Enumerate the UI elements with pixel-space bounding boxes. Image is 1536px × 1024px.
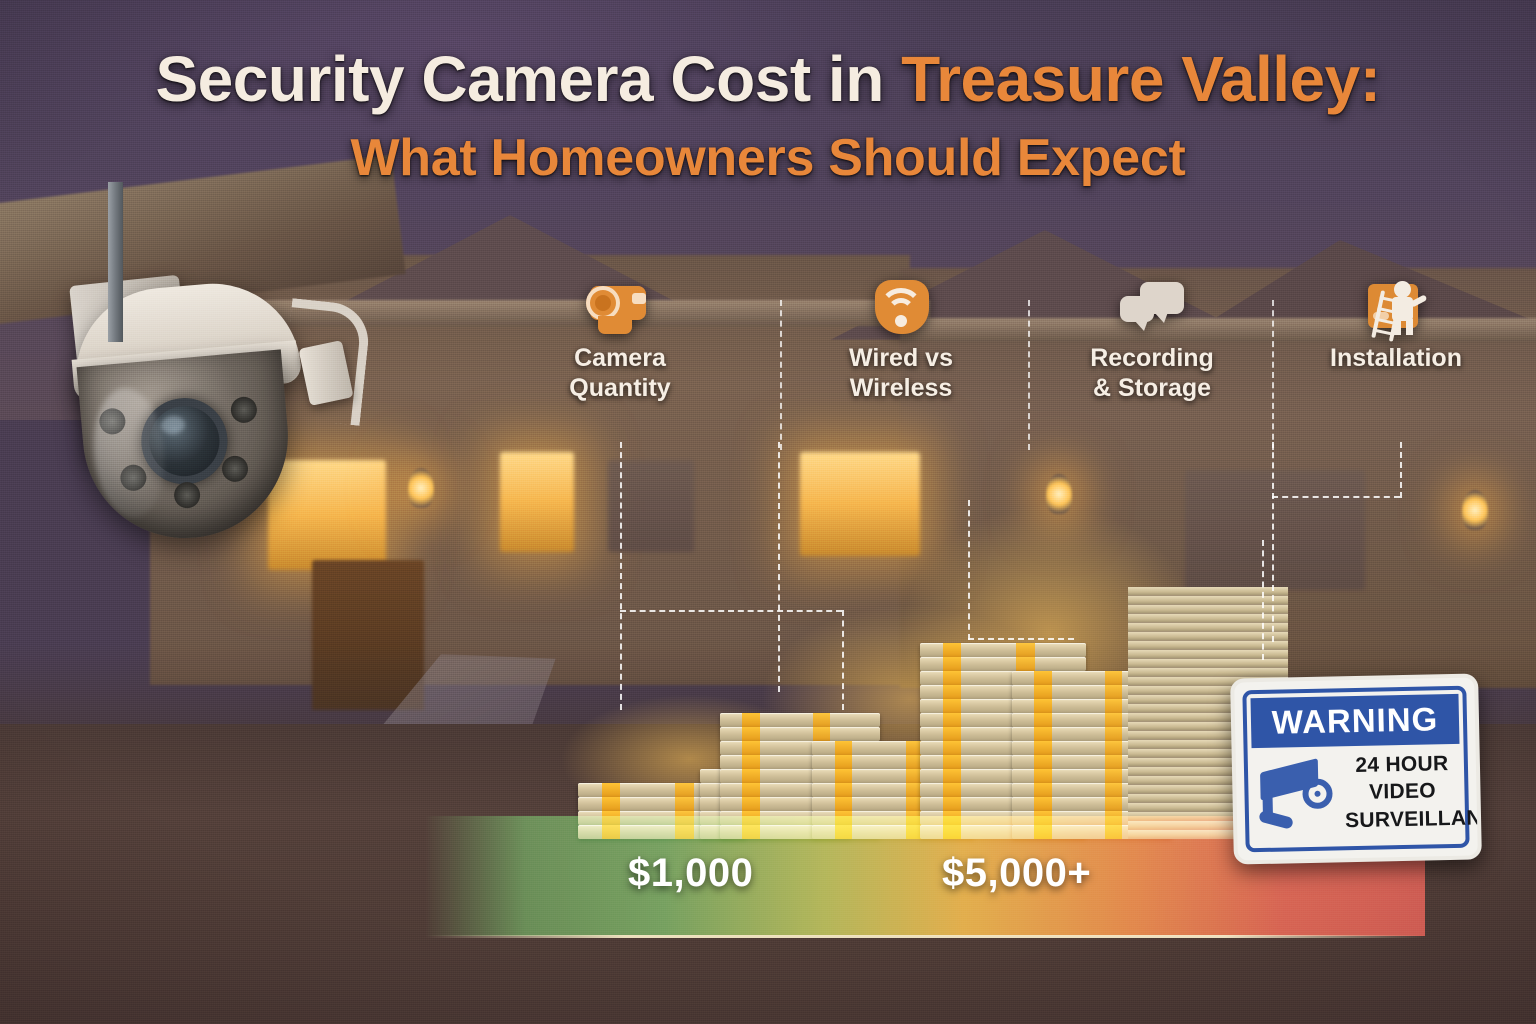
connector-camera-quantity-vertical xyxy=(620,442,622,710)
factor-wired-vs-wireless[interactable]: Wired vs Wireless xyxy=(812,278,990,403)
ir-led xyxy=(221,455,249,483)
factor-label: Wired vs Wireless xyxy=(812,344,990,403)
title-line-2: What Homeowners Should Expect xyxy=(0,128,1536,188)
wifi-icon xyxy=(865,278,937,338)
sign-text-block: 24 HOUR VIDEO SURVEILLANCE xyxy=(1344,750,1462,834)
sign-heading-text: WARNING xyxy=(1271,700,1438,741)
factor-label: Camera Quantity xyxy=(530,344,710,403)
sign-line-1: 24 HOUR xyxy=(1344,750,1461,780)
factor-installation[interactable]: Installation xyxy=(1308,278,1484,374)
factor-label: Recording & Storage xyxy=(1062,344,1242,403)
sign-heading-bar: WARNING xyxy=(1250,694,1459,748)
connector-installation-horizontal xyxy=(1272,496,1400,498)
connector-installation-vertical xyxy=(1272,442,1274,642)
cost-gradient-baseline xyxy=(425,935,1425,938)
title-plain: Security Camera Cost in xyxy=(155,43,901,115)
connector-installation-drop xyxy=(1400,442,1402,498)
porch-lamp-left xyxy=(408,468,434,508)
connector-recording-vertical xyxy=(968,500,970,640)
connector-camera-quantity-drop xyxy=(842,610,844,710)
ladder-worker-icon xyxy=(1360,278,1432,338)
sign-line-2: VIDEO xyxy=(1344,777,1461,807)
connector-installation-tail xyxy=(1262,540,1264,660)
surveillance-camera-icon xyxy=(1258,756,1340,832)
sign-line-3: SURVEILLANCE xyxy=(1345,804,1462,834)
price-high-label: $5,000+ xyxy=(942,851,1091,896)
chat-bubbles-icon xyxy=(1116,278,1188,338)
connector-recording-horizontal xyxy=(968,638,1074,640)
infographic-poster: Security Camera Cost in Treasure Valley:… xyxy=(0,0,1536,1024)
camera-icon xyxy=(584,278,656,338)
surveillance-warning-sign: WARNING 24 HOUR VIDEO SURVEILLANCE xyxy=(1232,676,1480,862)
title-accent: Treasure Valley: xyxy=(901,43,1380,115)
sign-post xyxy=(108,182,123,342)
cost-factor-row: Camera Quantity Wired vs Wireless Record… xyxy=(0,278,1536,438)
connector-camera-quantity-horizontal xyxy=(620,610,842,612)
page-title: Security Camera Cost in Treasure Valley:… xyxy=(0,46,1536,188)
factor-camera-quantity[interactable]: Camera Quantity xyxy=(530,278,710,403)
factor-recording-storage[interactable]: Recording & Storage xyxy=(1062,278,1242,403)
factor-label: Installation xyxy=(1308,344,1484,374)
price-low-label: $1,000 xyxy=(628,851,753,896)
sign-face: WARNING 24 HOUR VIDEO SURVEILLANCE xyxy=(1230,673,1482,864)
connector-wired-wireless-vertical xyxy=(778,442,780,692)
title-line-1: Security Camera Cost in Treasure Valley: xyxy=(0,46,1536,114)
